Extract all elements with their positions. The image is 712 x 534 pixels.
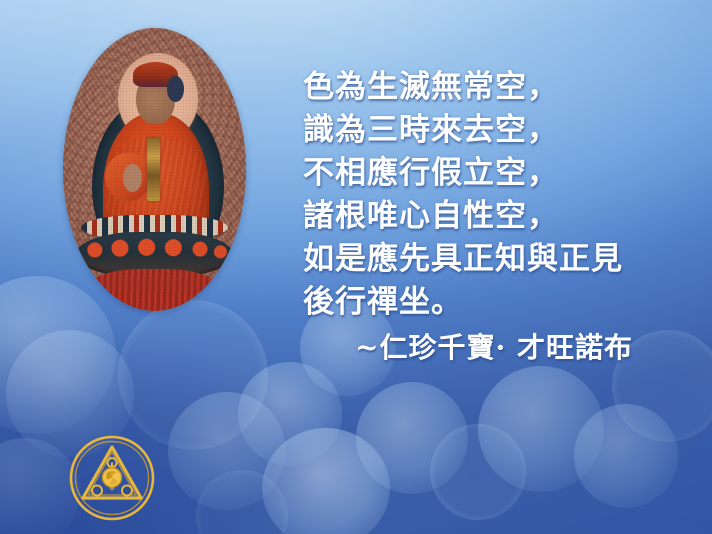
verse-line-2: 識為三時來去空， (303, 109, 703, 152)
slide-canvas: 色為生滅無常空， 識為三時來去空， 不相應行假立空， 諸根唯心自性空， 如是應先… (0, 0, 712, 534)
verse-line-6: 後行禪坐。 (303, 281, 703, 324)
thangka-portrait-image (63, 28, 246, 311)
verse-line-1: 色為生滅無常空， (303, 66, 703, 109)
verse-text-block: 色為生滅無常空， 識為三時來去空， 不相應行假立空， 諸根唯心自性空， 如是應先… (303, 66, 703, 324)
verse-line-3: 不相應行假立空， (303, 152, 703, 195)
triangle-circle-spiral-icon (66, 432, 158, 524)
verse-line-5: 如是應先具正知與正見 (303, 238, 703, 281)
verse-line-4: 諸根唯心自性空， (303, 195, 703, 238)
verse-attribution: ~仁珍千寶· 才旺諾布 (355, 326, 633, 366)
thangka-canvas-grain (63, 28, 246, 311)
